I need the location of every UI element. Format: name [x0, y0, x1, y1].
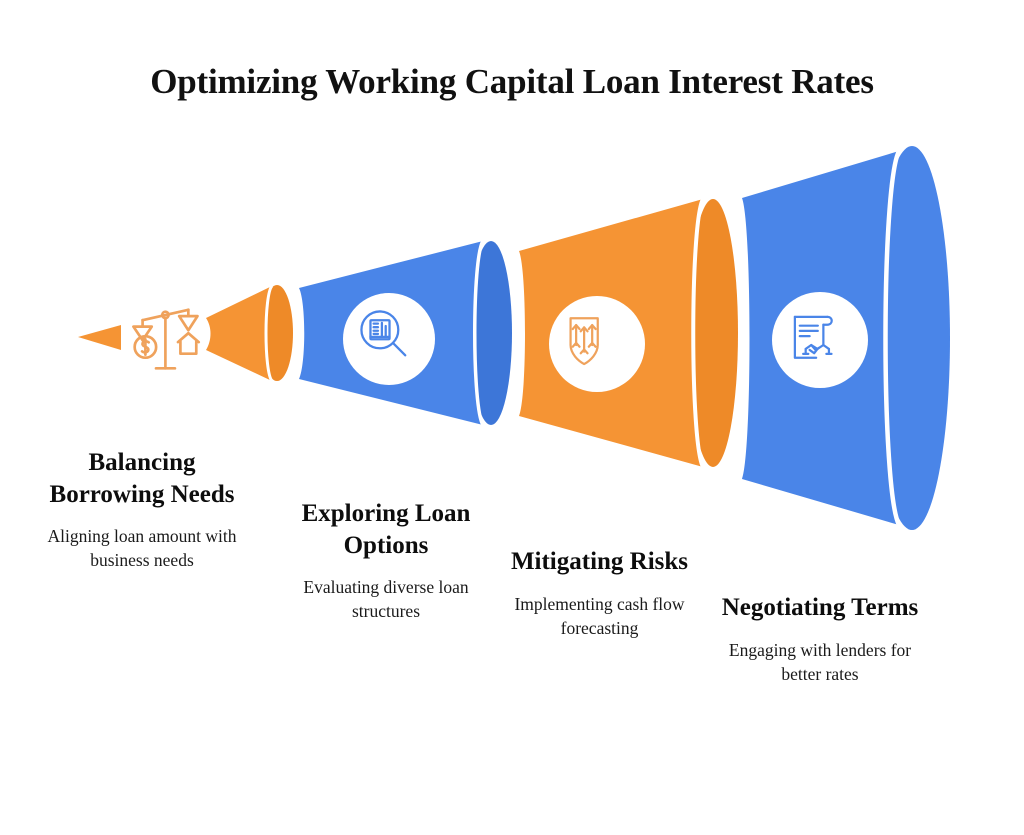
stage-description-4: Engaging with lenders for better rates: [712, 638, 928, 686]
stage-title-2: Exploring Loan Options: [272, 498, 500, 561]
icon-circle-4: [772, 292, 868, 388]
balance-scale-icon: [133, 310, 198, 369]
stage-caption-3: Mitigating Risks Implementing cash flow …: [492, 546, 707, 640]
funnel-stage-2-icon-badge: [343, 293, 435, 385]
funnel-stage-1-body: [206, 286, 272, 381]
funnel-stage-3-icon-badge: [549, 296, 645, 392]
stage-title-1: Balancing Borrowing Needs: [46, 447, 238, 510]
funnel-diagram: [0, 0, 1024, 835]
funnel-stage-4-icon-badge: [772, 292, 868, 388]
funnel-tip-arrow: [78, 325, 121, 350]
stage-title-4: Negotiating Terms: [712, 592, 928, 624]
stage-description-3: Implementing cash flow forecasting: [492, 592, 707, 640]
stage-description-1: Aligning loan amount with business needs: [46, 524, 238, 572]
stage-caption-4: Negotiating Terms Engaging with lenders …: [712, 592, 928, 686]
stage-caption-2: Exploring Loan Options Evaluating divers…: [272, 498, 500, 623]
funnel-stage-1[interactable]: [206, 285, 293, 381]
stage-description-2: Evaluating diverse loan structures: [272, 575, 500, 623]
stage-caption-1: Balancing Borrowing Needs Aligning loan …: [46, 447, 238, 572]
stage-title-3: Mitigating Risks: [492, 546, 707, 578]
